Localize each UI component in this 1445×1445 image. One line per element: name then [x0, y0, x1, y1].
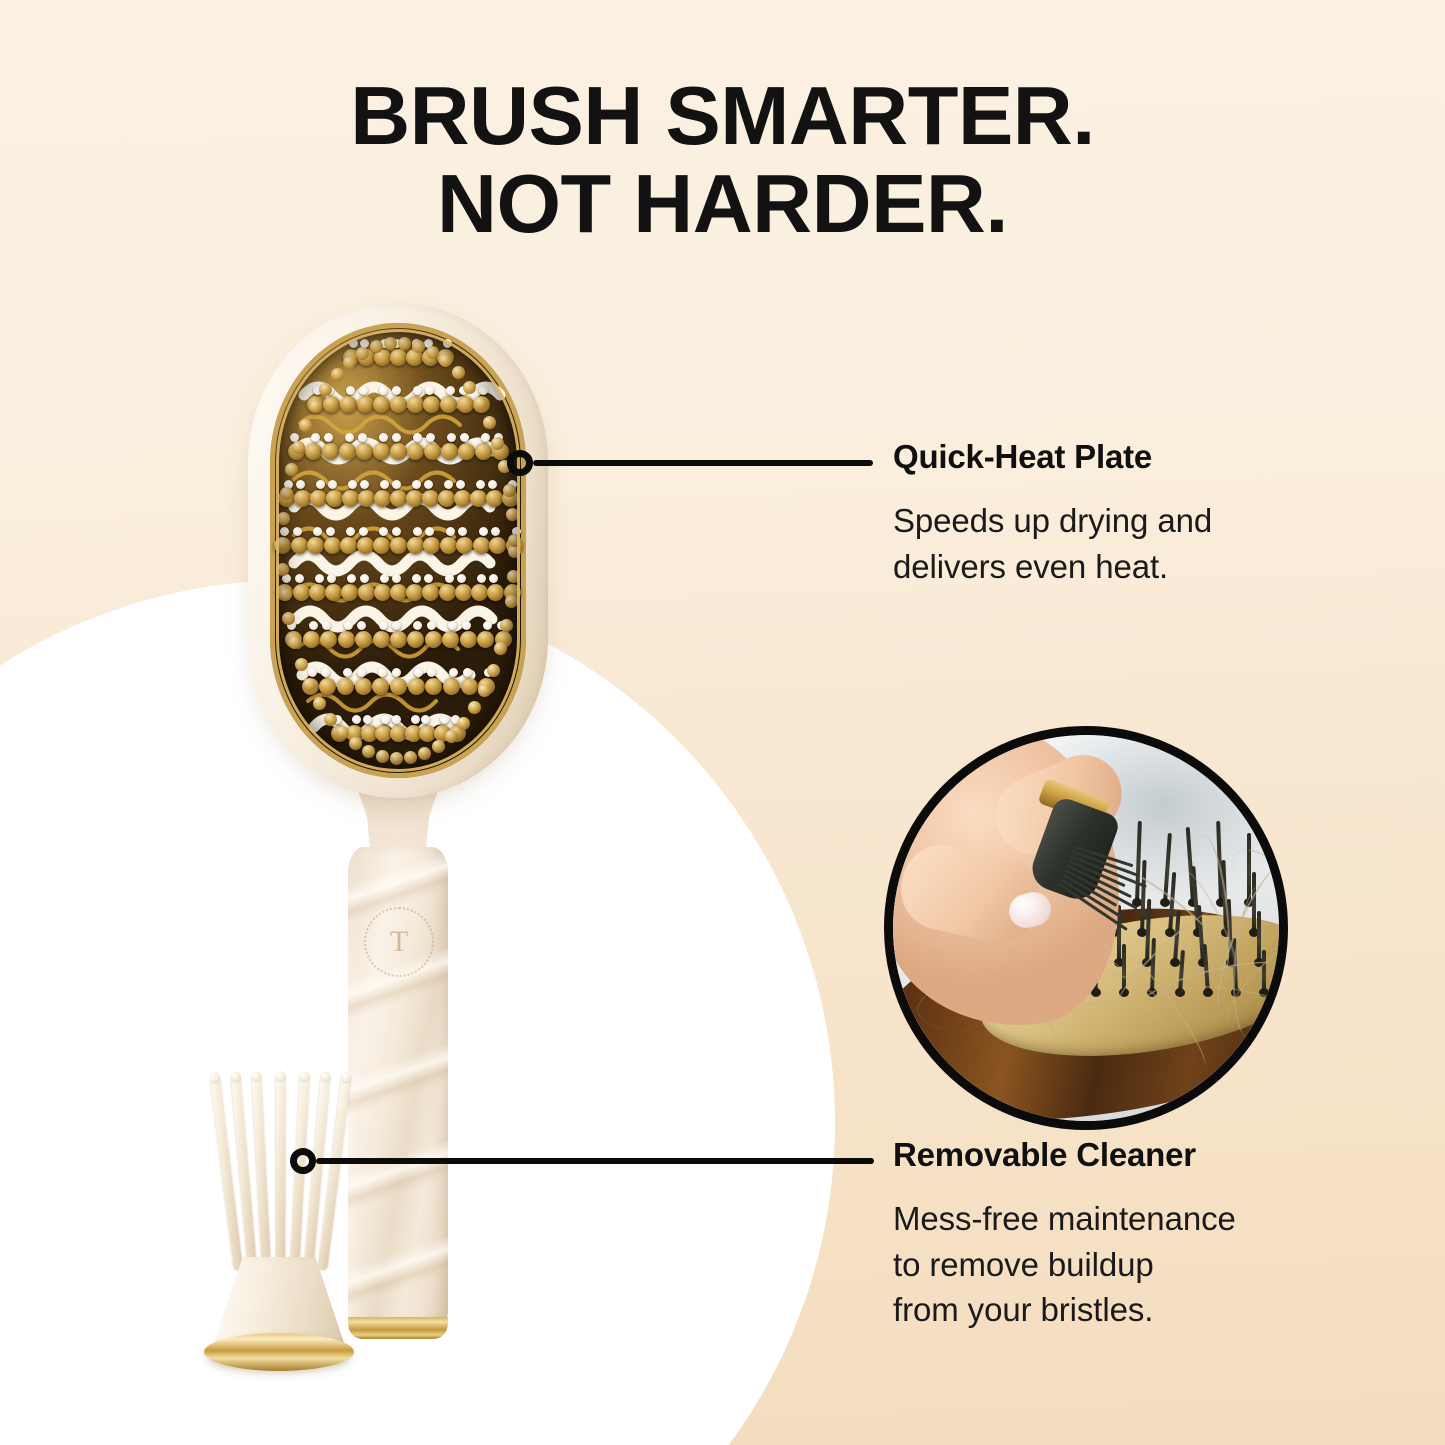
feature-title-removable-cleaner: Removable Cleaner — [893, 1136, 1323, 1174]
brush-head — [248, 303, 548, 798]
headline-line-2: NOT HARDER. — [0, 160, 1445, 248]
quick-heat-plate-surface — [270, 323, 526, 778]
inset-photo-cleaner-in-use — [884, 726, 1288, 1130]
cleaner-prongs — [224, 1075, 334, 1275]
plate-bristle-pins — [270, 323, 526, 778]
infographic-canvas: BRUSH SMARTER. NOT HARDER. T — [0, 0, 1445, 1445]
feature-desc-line: Speeds up drying and — [893, 498, 1323, 544]
handle-gold-base-ring — [348, 1317, 448, 1339]
headline-line-1: BRUSH SMARTER. — [0, 72, 1445, 160]
removable-cleaner-tool — [200, 1075, 360, 1365]
feature-desc-removable-cleaner: Mess-free maintenance to remove buildup … — [893, 1196, 1323, 1333]
callout-dot-removable-cleaner — [290, 1148, 316, 1174]
feature-removable-cleaner: Removable Cleaner Mess-free maintenance … — [893, 1136, 1323, 1333]
feature-quick-heat-plate: Quick-Heat Plate Speeds up drying and de… — [893, 438, 1323, 589]
plate-wave-ridges — [270, 323, 526, 778]
callout-line-removable-cleaner — [316, 1158, 874, 1164]
photo-content — [893, 735, 1279, 1121]
page-title: BRUSH SMARTER. NOT HARDER. — [0, 72, 1445, 248]
feature-desc-line: Mess-free maintenance — [893, 1196, 1323, 1242]
feature-desc-line: delivers even heat. — [893, 544, 1323, 590]
cleaner-gold-ring — [204, 1333, 354, 1371]
feature-desc-quick-heat-plate: Speeds up drying and delivers even heat. — [893, 498, 1323, 589]
feature-title-quick-heat-plate: Quick-Heat Plate — [893, 438, 1323, 476]
callout-dot-quick-heat-plate — [507, 450, 533, 476]
brand-logo-emblem: T — [364, 907, 434, 977]
feature-desc-line: to remove buildup — [893, 1242, 1323, 1288]
feature-desc-line: from your bristles. — [893, 1287, 1323, 1333]
callout-line-quick-heat-plate — [533, 460, 873, 466]
